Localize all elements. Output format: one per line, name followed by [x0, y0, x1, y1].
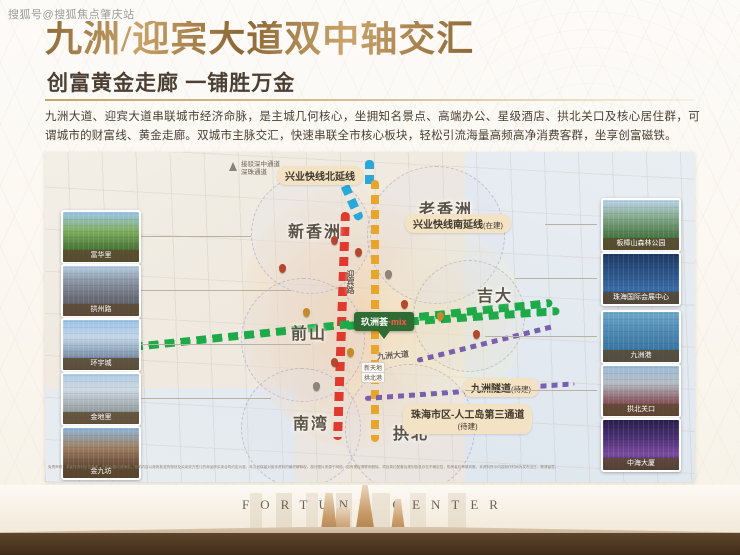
map-district-label-qianshan: 前山	[291, 320, 327, 344]
thumbnail-caption: 珠海国际会展中心	[603, 292, 679, 304]
project-location-marker[interactable]: 玖洲荟·mix	[354, 312, 414, 339]
project-name: 玖洲荟	[361, 317, 388, 327]
thumbnail-caption: 金地里	[63, 412, 139, 424]
page-subtitle: 创富黄金走廊 一铺胜万金	[47, 67, 295, 97]
location-map-panel[interactable]: 接驳深中通道 深珠通道 新香洲 老香洲 吉大 前山 南湾 拱北 兴业快线北延线 …	[45, 152, 695, 482]
project-name-suffix: ·mix	[388, 317, 407, 327]
site-watermark: 搜狐号@搜狐焦点肇庆站	[8, 6, 135, 22]
map-callout-xingye-north[interactable]: 兴业快线北延线	[277, 166, 363, 185]
project-marker-label: 玖洲荟·mix	[354, 312, 414, 331]
title-divider	[45, 99, 695, 101]
map-road-label-yingbin: 迎宾路	[345, 270, 356, 294]
map-callout-label: 珠海市区-人工岛第三通道	[411, 410, 524, 421]
thumbnail-leader-line	[141, 290, 291, 291]
footer-dark-band	[0, 533, 740, 555]
thumbnail-caption: 环宇城	[63, 358, 139, 370]
map-canvas: 接驳深中通道 深珠通道 新香洲 老香洲 吉大 前山 南湾 拱北 兴业快线北延线 …	[45, 152, 695, 482]
map-road-label-text: 九洲大道	[377, 350, 410, 362]
page-title: 九洲/迎宾大道双中轴交汇	[45, 21, 474, 58]
map-district-label-jida: 吉大	[477, 282, 513, 306]
thumbnail-leader-line	[545, 224, 597, 225]
map-thumbnail-left-2[interactable]: 拱州路	[61, 264, 141, 318]
map-callout-label: 兴业快线北延线	[285, 172, 355, 183]
poster-page: 搜狐号@搜狐焦点肇庆站 九洲/迎宾大道双中轴交汇 创富黄金走廊 一铺胜万金 九洲…	[0, 0, 740, 555]
map-thumbnail-left-1[interactable]: 富华里	[61, 210, 141, 264]
thumbnail-leader-line	[465, 390, 597, 391]
arrow-note: 接驳深中通道 深珠通道	[241, 161, 280, 177]
thumbnail-leader-line	[515, 278, 597, 279]
thumbnail-caption: 富华里	[63, 250, 139, 262]
legal-disclaimer: 免责声明：本宣传资料仅供参考，不作为要约或承诺，相关内容以政府批准的规划及买卖双…	[48, 464, 668, 470]
arrow-note-line2: 深珠通道	[241, 169, 280, 177]
thumbnail-caption: 板樟山森林公园	[603, 238, 679, 250]
route-line-xingye-south	[371, 180, 379, 442]
intro-paragraph: 九洲大道、迎宾大道串联城市经济命脉，是主城几何核心，坐拥知名景点、高端办公、星级…	[45, 108, 700, 146]
map-thumbnail-right-1[interactable]: 板樟山森林公园	[601, 198, 681, 252]
arrow-note-line1: 接驳深中通道	[241, 161, 280, 169]
map-callout-note: (待建)	[458, 422, 478, 431]
project-marker-tip	[378, 331, 390, 339]
thumbnail-leader-line	[485, 336, 597, 337]
map-thumbnail-right-4[interactable]: 拱北关口	[601, 364, 681, 418]
map-poi-chip-gongbeigang[interactable]: 拱北港	[361, 372, 385, 383]
page-footer: FORTUNE CENTER	[0, 485, 740, 555]
thumbnail-leader-line	[141, 344, 311, 345]
map-thumbnail-left-5[interactable]: 金九坊	[61, 426, 141, 480]
thumbnail-caption: 九洲港	[603, 350, 679, 362]
map-callout-third-channel[interactable]: 珠海市区-人工岛第三通道(待建)	[403, 404, 532, 434]
thumbnail-caption: 拱北关口	[603, 404, 679, 416]
thumbnail-leader-line	[141, 236, 251, 237]
map-callout-note: (在建)	[483, 221, 503, 230]
map-callout-xingye-south[interactable]: 兴业快线南延线(在建)	[405, 214, 511, 233]
map-callout-label: 兴业快线南延线	[413, 220, 483, 231]
map-callout-jiuzhou-tunnel[interactable]: 九洲隧道(待建)	[463, 378, 539, 397]
map-thumbnail-left-3[interactable]: 环宇城	[61, 318, 141, 372]
map-thumbnail-right-2[interactable]: 珠海国际会展中心	[601, 252, 681, 306]
map-thumbnail-right-3[interactable]: 九洲港	[601, 310, 681, 364]
thumbnail-caption: 拱州路	[63, 304, 139, 316]
north-arrow-icon	[229, 162, 237, 171]
map-thumbnail-left-4[interactable]: 金地里	[61, 372, 141, 426]
map-district-label-nanwan: 南湾	[293, 410, 329, 434]
thumbnail-leader-line	[141, 398, 271, 399]
